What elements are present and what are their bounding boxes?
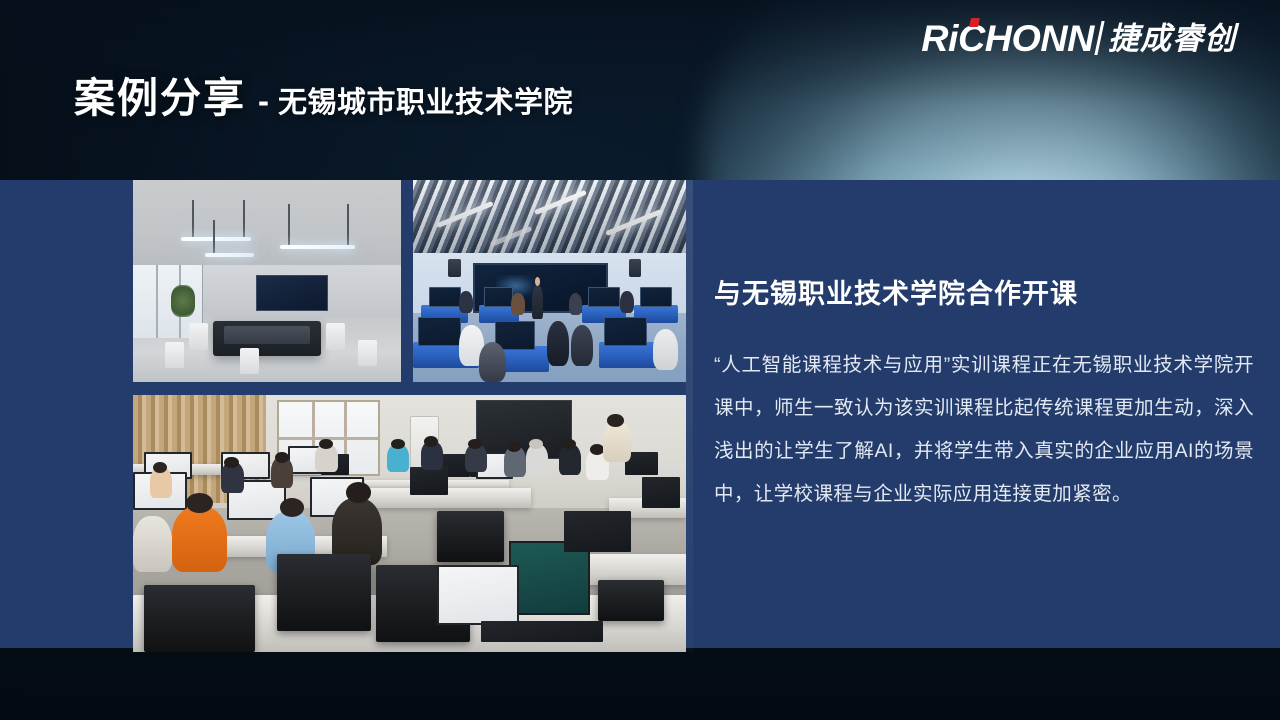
- logo-red-dot-icon: [969, 18, 980, 27]
- logo-divider-bar: [1094, 21, 1104, 55]
- photo-lecture-hall-class-content: [413, 180, 686, 382]
- photo-lecture-hall-class[interactable]: [413, 180, 686, 382]
- panel-edge-highlight: [686, 180, 693, 652]
- section-headline: 与无锡职业技术学院合作开课: [714, 278, 1254, 310]
- text-column: 与无锡职业技术学院合作开课 “人工智能课程技术与应用”实训课程正在无锡职业技术学…: [714, 278, 1254, 516]
- brand-logo: RiCHONN 捷成睿创: [923, 17, 1236, 59]
- page-title-main: 案例分享: [74, 78, 246, 119]
- logo-wordmark-chinese: 捷成睿创: [1108, 23, 1236, 54]
- section-body-text: “人工智能课程技术与应用”实训课程正在无锡职业技术学院开课中，师生一致认为该实训…: [714, 344, 1254, 516]
- page-title: 案例分享 - 无锡城市职业技术学院: [74, 78, 573, 119]
- slide-root: RiCHONN 捷成睿创 案例分享 - 无锡城市职业技术学院: [0, 0, 1280, 720]
- photo-computer-lab-students[interactable]: [133, 395, 686, 652]
- photo-gallery: [133, 180, 686, 652]
- photo-computer-lab-students-content: [133, 395, 686, 652]
- photo-empty-smart-classroom-content: [133, 180, 401, 382]
- photo-empty-smart-classroom[interactable]: [133, 180, 401, 382]
- logo-wordmark-latin: RiCHONN: [921, 20, 1094, 57]
- page-title-dash: -: [258, 84, 269, 117]
- page-title-subject: 无锡城市职业技术学院: [278, 89, 573, 118]
